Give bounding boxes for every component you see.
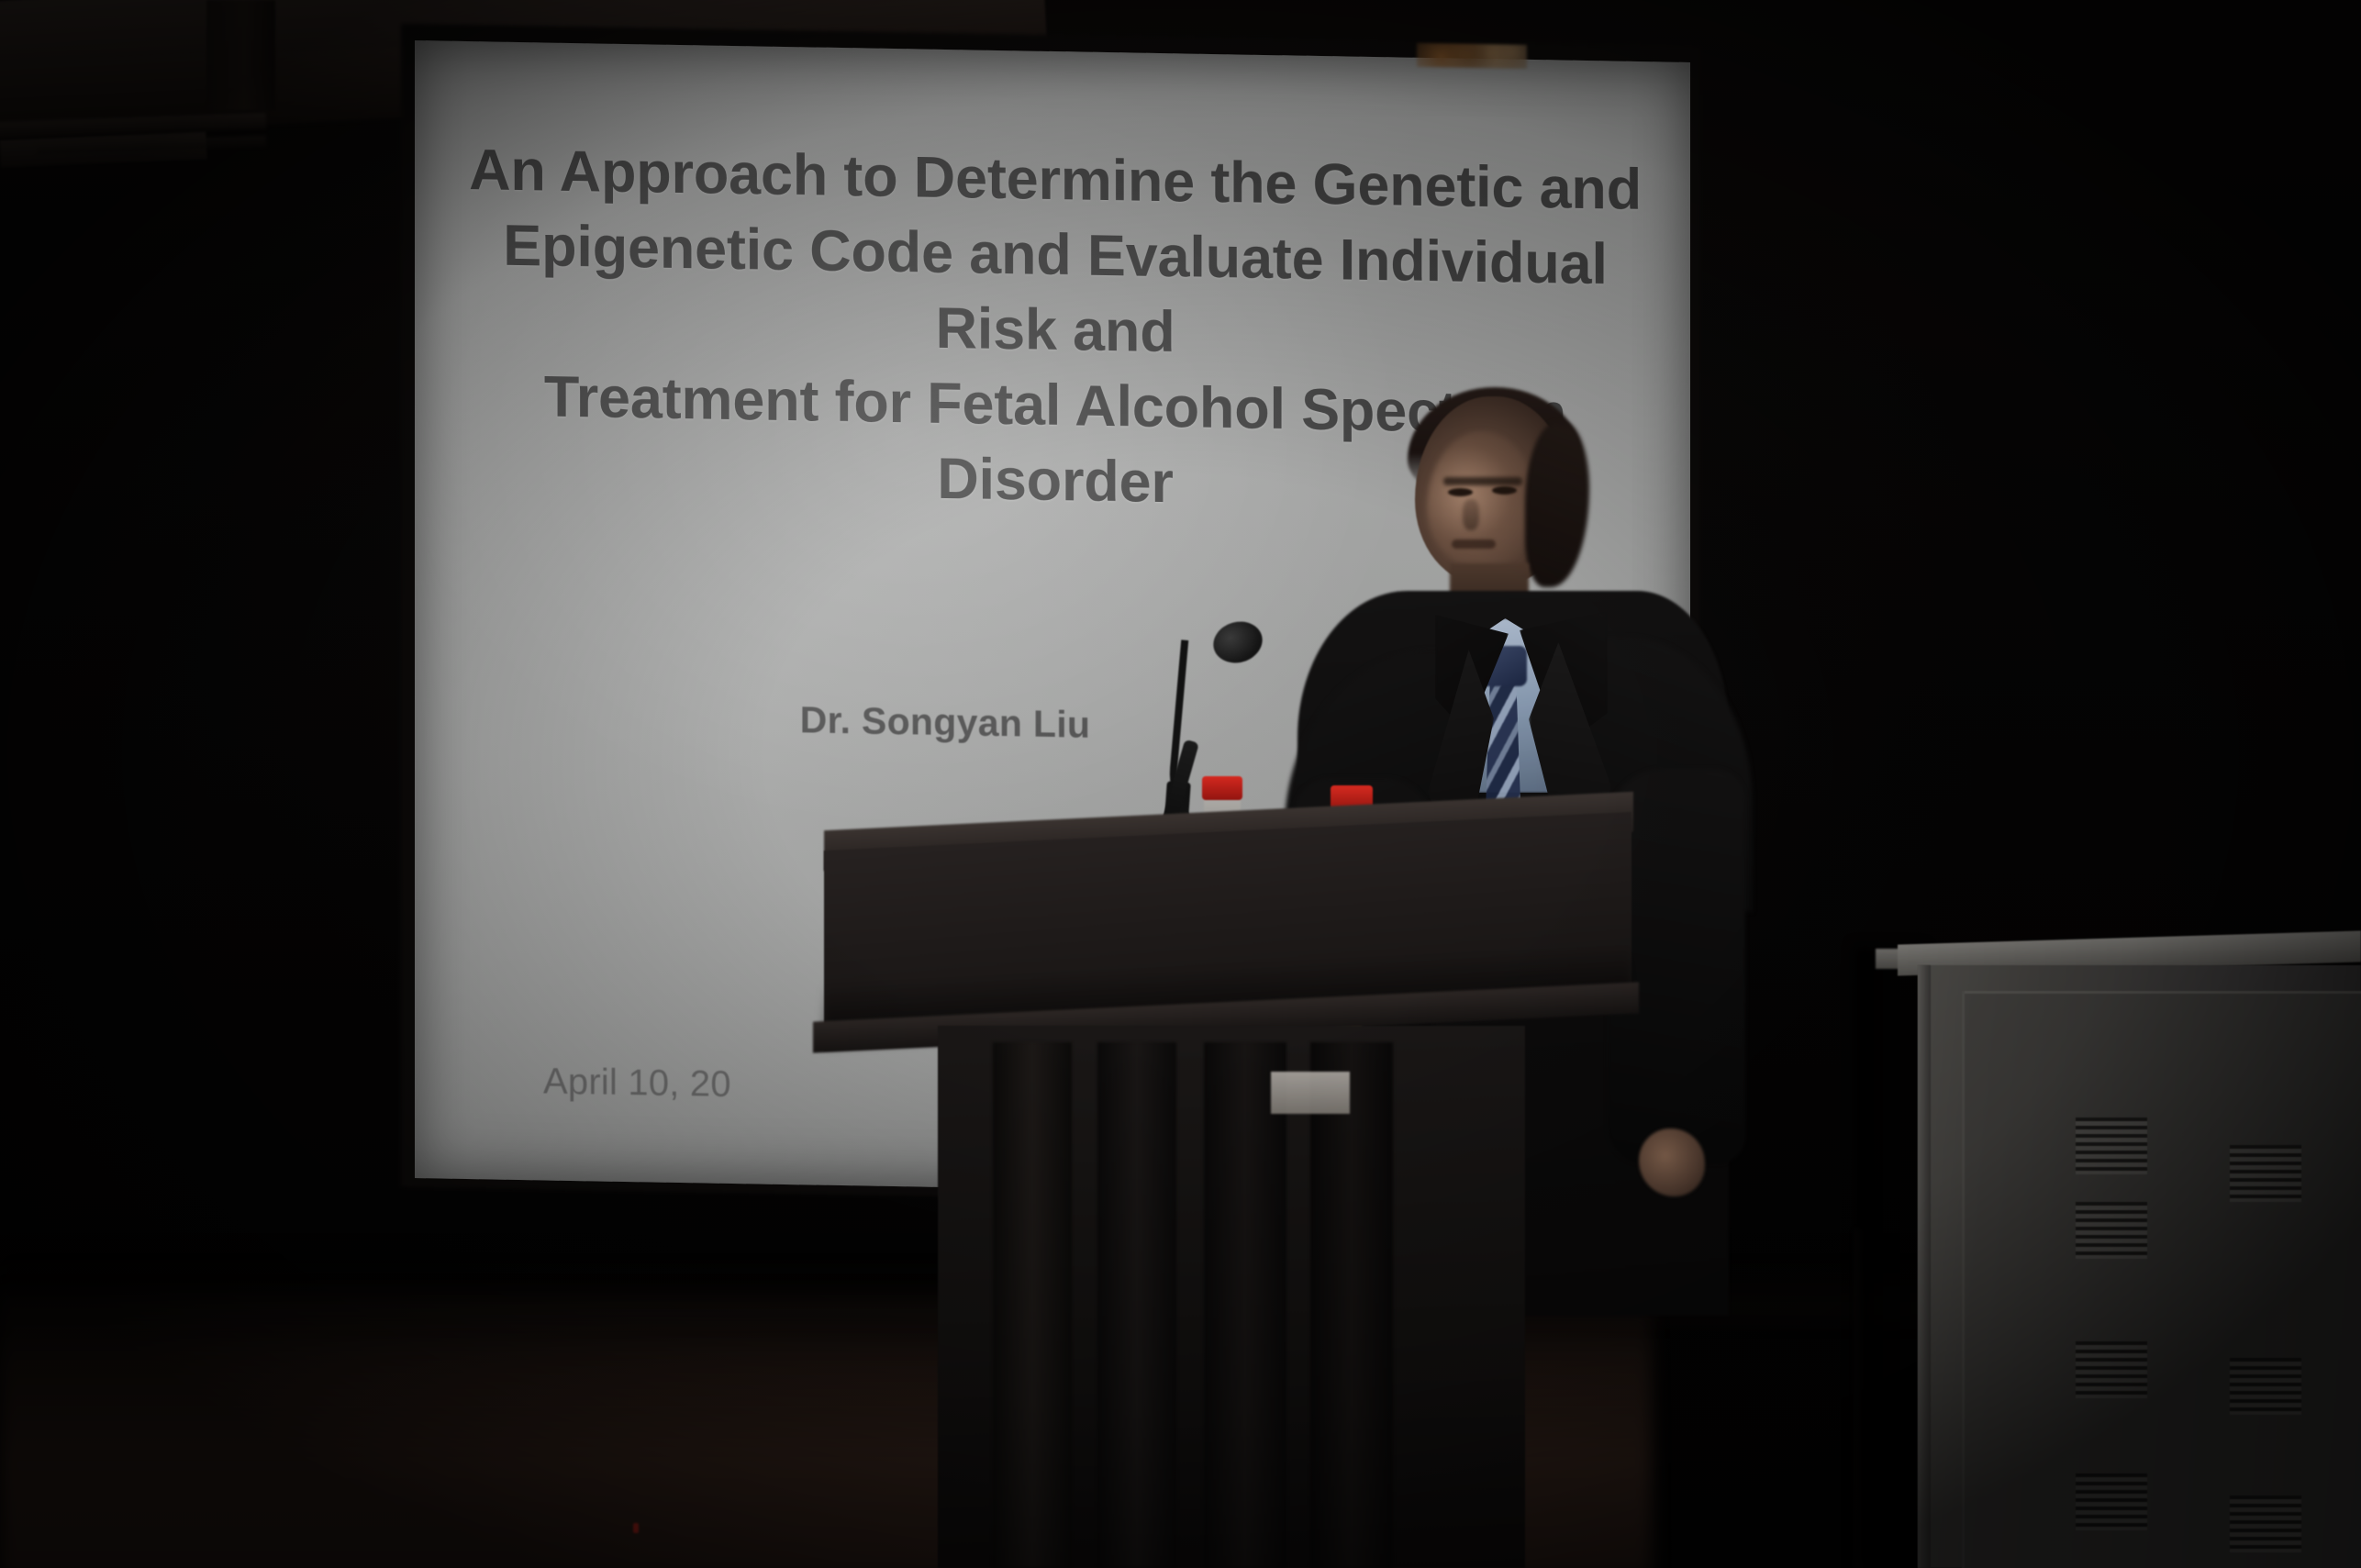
speaker-mouth [1452, 539, 1496, 549]
indicator-led [633, 1523, 639, 1533]
cabinet-louver-icon [2230, 1145, 2301, 1202]
cabinet-left-edge [1918, 965, 1931, 1568]
podium-flute [993, 1042, 1072, 1568]
cabinet-louver-icon [2076, 1473, 2147, 1530]
cabinet-door[interactable] [1962, 991, 2361, 1568]
speaker-eye-left [1448, 488, 1473, 496]
ceiling-support-post [206, 0, 275, 110]
cabinet-shadow [1854, 945, 1927, 1568]
cabinet-louver-icon [2076, 1202, 2147, 1259]
water-bottle-left-cap [1202, 776, 1242, 800]
slide-title-line-2: Epigenetic Code and Evaluate Individual … [459, 208, 1652, 379]
presentation-photo-scene: An Approach to Determine the Genetic and… [0, 0, 2361, 1568]
podium-flute [1204, 1042, 1286, 1568]
speaker-hand-right [1639, 1129, 1705, 1196]
podium-flute [1097, 1042, 1176, 1568]
speaker-brow [1443, 477, 1522, 485]
podium-plaque [1271, 1072, 1350, 1114]
podium-flute [1310, 1042, 1393, 1568]
speaker-eye-right [1492, 486, 1517, 495]
speaker-hair-side [1525, 422, 1589, 587]
cabinet-louver-icon [2076, 1341, 2147, 1398]
institution-logo-icon [1417, 43, 1527, 69]
cabinet-louver-icon [2230, 1496, 2301, 1552]
cabinet-louver-icon [2076, 1118, 2147, 1174]
cabinet-louver-icon [2230, 1358, 2301, 1415]
slide-author: Dr. Songyan Liu [459, 693, 1431, 752]
speaker-nose [1463, 499, 1479, 530]
